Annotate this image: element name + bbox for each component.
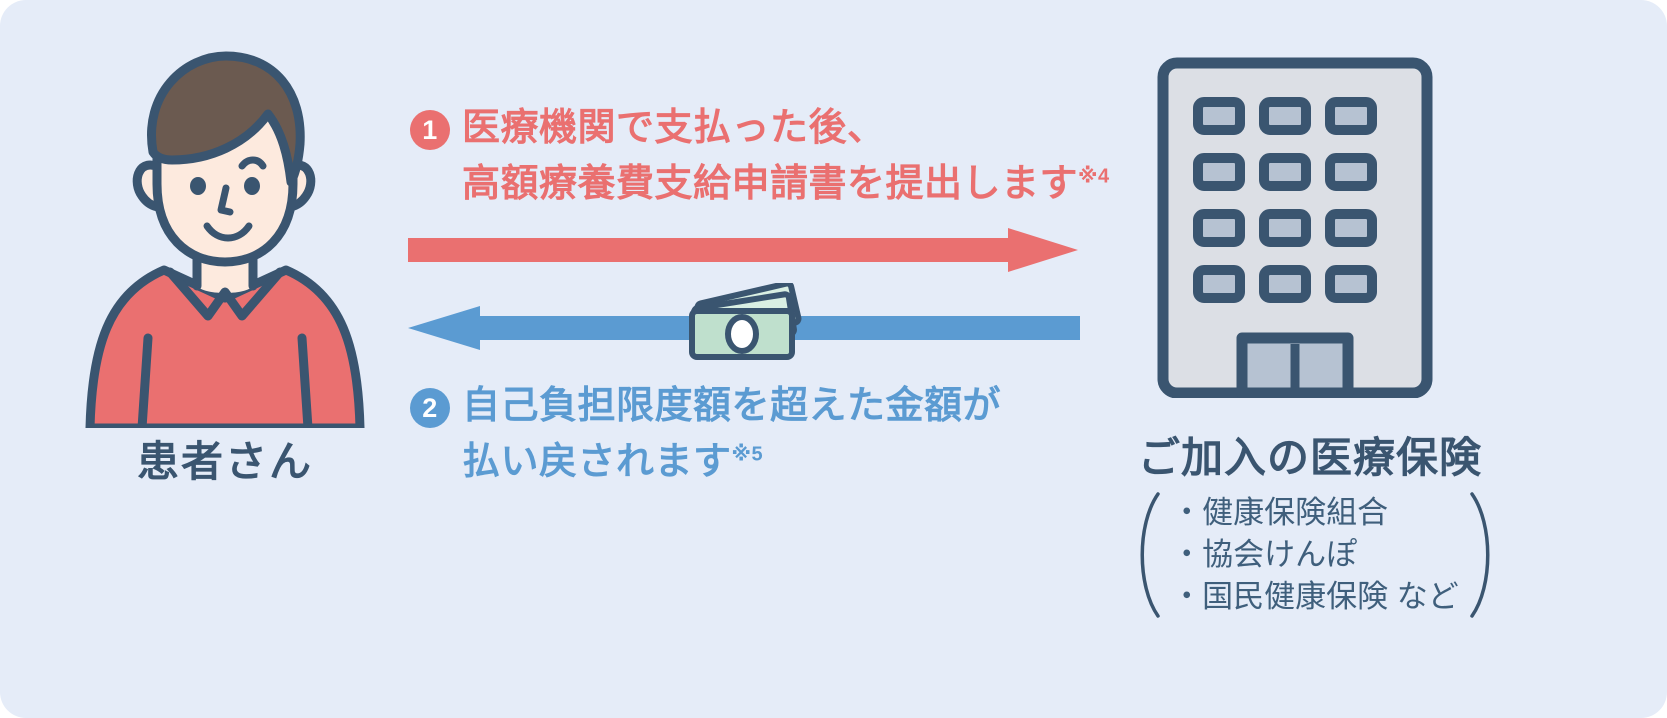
step-1-number: 1: [410, 110, 450, 150]
insurer-type-item: ・健康保険組合: [1171, 492, 1459, 534]
step-1-footnote: ※4: [1078, 165, 1110, 187]
office-building-icon: [1150, 50, 1440, 398]
patient-person-icon: [60, 48, 390, 428]
left-paren-icon: [1127, 490, 1165, 620]
step-1-line-2: 高額療養費支給申請書を提出します: [462, 163, 1078, 205]
banknotes-icon: [676, 283, 808, 363]
arrow-right-red: [408, 228, 1078, 272]
insurer-type-item: ・国民健康保険 など: [1171, 576, 1459, 618]
step-2-number: 2: [410, 388, 450, 428]
step-2-footnote: ※5: [732, 443, 764, 465]
step-1-line-2-wrap: 高額療養費支給申請書を提出します※4: [462, 160, 1140, 208]
diagram-canvas: 患者さん ご加入の医療保険: [0, 0, 1667, 718]
step-1-text: 1 医療機関で支払った後、 高額療養費支給申請書を提出します※4: [410, 104, 1140, 208]
insurer-types-list: ・健康保険組合 ・協会けんぽ ・国民健康保険 など: [1165, 492, 1465, 618]
step-2-text: 2 自己負担限度額を超えた金額が 払い戻されます※5: [410, 382, 1050, 486]
step-1-line-1: 医療機関で支払った後、: [462, 104, 886, 152]
insurer-type-item: ・協会けんぽ: [1171, 534, 1459, 576]
step-2-line-2: 払い戻されます: [462, 441, 732, 483]
right-paren-icon: [1465, 490, 1503, 620]
step-2-line-1: 自己負担限度額を超えた金額が: [462, 382, 1001, 430]
insurer-label: ご加入の医療保険: [1030, 424, 1590, 485]
patient-label: 患者さん: [60, 428, 390, 489]
insurer-types-group: ・健康保険組合 ・協会けんぽ ・国民健康保険 など: [1055, 490, 1575, 620]
step-2-line-2-wrap: 払い戻されます※5: [462, 438, 1050, 486]
